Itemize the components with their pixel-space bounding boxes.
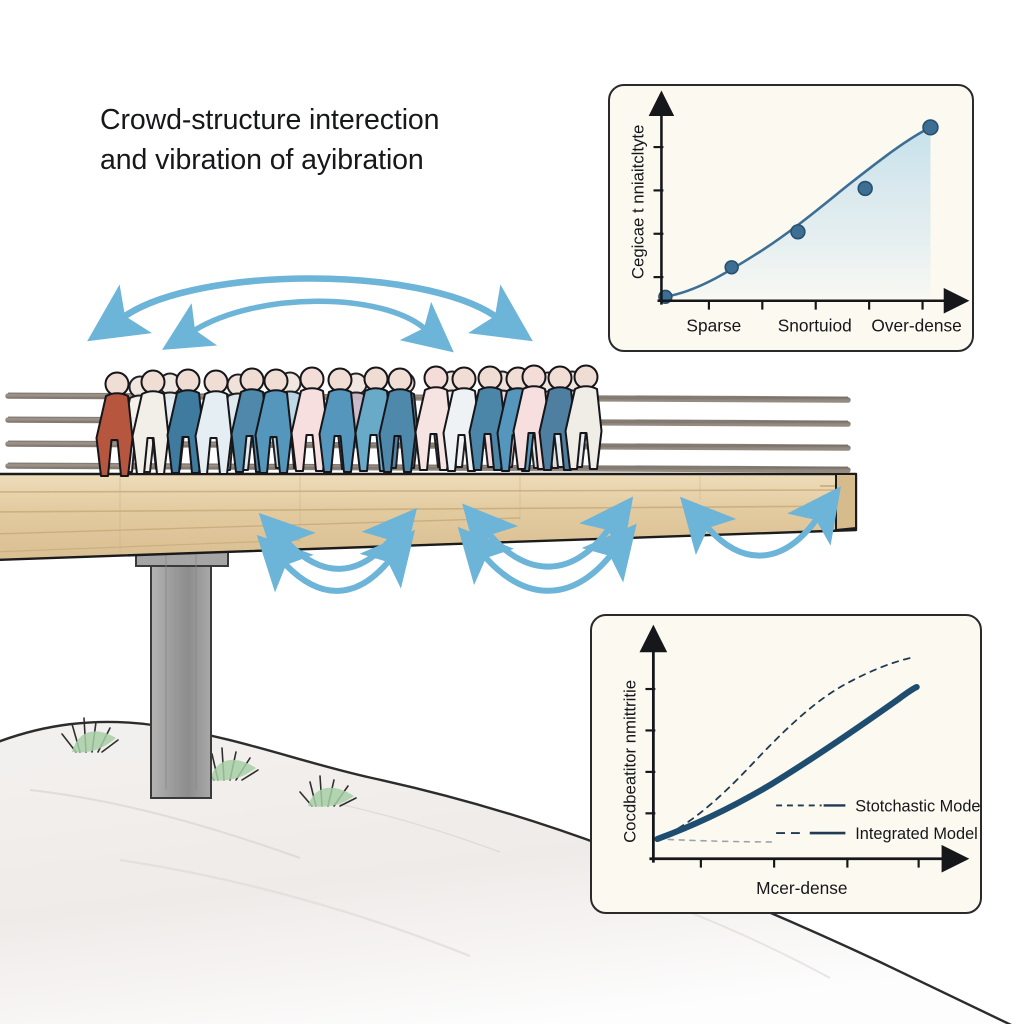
- page-title-line-1: Crowd-structure interection: [100, 100, 530, 140]
- illustration-canvas: Crowd-structure interection and vibratio…: [0, 0, 1024, 1024]
- chart-panel-crowd-density: Cegicae t nniaitcltyte Sparse Snortuiod …: [608, 84, 974, 352]
- page-title-line-2: and vibration of ayibration: [100, 140, 530, 180]
- top-chart-x-tick-label-1: Snortuiod: [778, 315, 852, 335]
- legend-label-stochastic: Stotchastic Model: [855, 797, 980, 815]
- page-title: Crowd-structure interection and vibratio…: [100, 100, 530, 181]
- bottom-chart-y-axis-label: Cocdbeatitor nmittritie: [621, 680, 640, 843]
- top-chart-x-tick-label-2: Over-dense: [871, 315, 961, 335]
- vibration-arrow-upper-inner: [195, 301, 424, 330]
- chart-panel-model-comparison: Stotchastic Model Integrated Model Cocdb…: [590, 614, 982, 914]
- top-chart-x-tick-label-0: Sparse: [686, 315, 741, 335]
- legend-label-integrated: Integrated Model: [855, 825, 978, 843]
- top-chart-x-ticks: [709, 301, 923, 310]
- top-chart-y-axis-label: Cegicae t nniaitcltyte: [629, 125, 648, 279]
- bottom-chart-x-axis-label: Mcer-dense: [756, 878, 847, 898]
- crowd-of-pedestrians: [97, 366, 602, 477]
- bottom-chart-legend: Stotchastic Model Integrated Model: [776, 797, 980, 843]
- bottom-chart-baseline: [657, 839, 776, 842]
- vibration-arrow-upper-outer: [125, 279, 495, 317]
- bottom-chart-series-integrated: [657, 687, 916, 839]
